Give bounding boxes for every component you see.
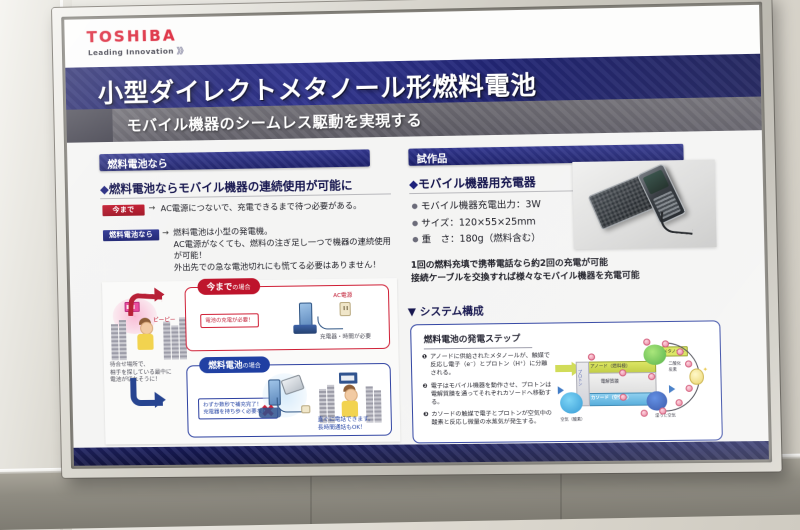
scenario-after-box: 燃料電池の場合 わずか数秒で補充完了！ 充電器を持ち歩く必要なし！ ✖ (186, 363, 392, 438)
scenario-before-pill-sub: の場合 (232, 284, 250, 291)
step-item-0: ❶アノードに供給されたメタノールが、触媒で反応し電子（e⁻）とプロトン（H⁺）に… (422, 352, 553, 378)
left-heading-text: 燃料電池ならモバイル機器の連続使用が可能に (109, 178, 353, 196)
charger-crossed-out (259, 408, 281, 418)
badge-after: 燃料電池なら (103, 229, 159, 241)
section-header-fuelcell-label: 燃料電池なら (107, 155, 168, 171)
after-text-line-1: AC電源がなくても、燃料の注ぎ足し一つで機器の連続使用が可能！ (173, 235, 396, 262)
scenario-before-callout: 電池の充電が必要！ (200, 313, 258, 328)
proton-label: プロトン (577, 370, 584, 386)
scenario-before-footnote: 充電器・時間が必要 (320, 334, 371, 342)
poster-body: 燃料電池なら ◆燃料電池ならモバイル機器の連続使用が可能に 今まで → AC電源… (67, 130, 769, 448)
spec-list: モバイル機器充電出力：3W サイズ：120×55×25mm 重 さ：180g（燃… (411, 197, 541, 249)
wet-air-out-arrow-icon (669, 385, 675, 393)
co2-blob (643, 344, 666, 365)
air-in-arrow-icon (558, 386, 564, 394)
step-text-2: カソードの触媒で電子とプロトンが空気中の酸素と反応し微量の水蒸気が発生する。 (431, 411, 552, 427)
scenario-after-result-0: 直ぐに電話できます。 (318, 417, 374, 425)
product-photo (572, 160, 716, 250)
system-config-label: システム構成 (420, 305, 484, 318)
electrolyte-label: 電解質膜 (601, 379, 619, 385)
right-heading-text: モバイル機器用充電器 (418, 175, 536, 191)
before-text-line-0: AC電源につないで、充電できるまで待つ必要がある。 (161, 200, 362, 215)
chevrons-icon: 》》 (177, 46, 187, 55)
scenario-before-pill: 今までの場合 (197, 278, 259, 295)
scenario-after-pill-sub: の場合 (243, 362, 261, 369)
connector-plug (301, 405, 310, 413)
diamond-icon: ◆ (100, 182, 109, 196)
step-num-2: ❸ (423, 411, 428, 419)
system-config-header: ▼ システム構成 (408, 303, 484, 319)
scenario-illustration: ピーピー 待合せ場所で、 相手を探している最中に 電池が切れそうに！ (102, 278, 400, 444)
air-blob (560, 392, 583, 414)
step-text-0: アノードに供給されたメタノールが、触媒で反応し電子（e⁻）とプロトン（H⁺）に分… (430, 353, 550, 377)
step-item-2: ❸カソードの触媒で電子とプロトンが空気中の酸素と反応し微量の水蒸気が発生する。 (423, 410, 554, 428)
spec-item-2: 重 さ：180g（燃料含む） (412, 230, 542, 249)
scenario-before-pill-main: 今まで (207, 282, 233, 292)
fuelcell-diagram: メタノール アノード（燃料極） 電解質膜 カソード（空気極） プロトン 二酸化 … (555, 338, 714, 435)
anode-label: アノード（燃料極） (590, 363, 630, 370)
right-heading: ◆モバイル機器用充電器 (409, 174, 536, 192)
scenario-after-result-1: 長時間通話もOK！ (318, 424, 374, 432)
methanol-inlet-bar (555, 365, 574, 372)
flow-arrow-up-icon (128, 287, 175, 314)
after-text-line-2: 外出先での急な電池切れにも慌てる必要はありません！ (174, 258, 397, 273)
framed-poster: TOSHIBA Leading Innovation 》》 小型ダイレクトメタノ… (52, 0, 782, 478)
air-label: 空気（酸素） (560, 416, 585, 422)
diamond-icon-right: ◆ (409, 177, 418, 191)
section-header-prototype-label: 試作品 (416, 150, 447, 166)
step-list: ❶アノードに供給されたメタノールが、触媒で反応し電子（e⁻）とプロトン（H⁺）に… (422, 352, 555, 432)
spec-item-0: モバイル機器充電出力：3W (411, 197, 541, 216)
scenario-before-box: 今までの場合 電池の充電が必要！ AC電源 充電器・時間が必要 (184, 284, 390, 351)
section-header-fuelcell: 燃料電池なら (99, 149, 370, 171)
flow-arrow-down-icon (130, 378, 171, 413)
brand-tagline: Leading Innovation 》》 (88, 45, 187, 58)
arrow-after-icon: → (162, 228, 169, 237)
triangle-down-icon: ▼ (408, 306, 416, 318)
tagline-text: Leading Innovation (88, 46, 174, 57)
system-title-rule (424, 347, 532, 349)
step-text-1: 電子はモバイル機器を動作させ、プロトンは電解質膜を通ってそれぞれカソードへ移動す… (431, 382, 552, 406)
arrow-before-icon: → (148, 203, 155, 212)
system-box-title: 燃料電池の発電ステップ (424, 332, 521, 345)
spec-item-1: サイズ：120×55×25mm (412, 214, 542, 233)
ac-outlet-icon (339, 302, 350, 316)
connection-cable (659, 212, 694, 235)
scenario-after-pill-main: 燃料電池 (208, 361, 243, 371)
charging-dock (293, 325, 316, 334)
ac-label: AC電源 (333, 293, 352, 301)
badge-before: 今まで (102, 205, 144, 217)
step-num-0: ❶ (422, 353, 427, 361)
right-notes: 1回の燃料充填で携帯電話なら約2回の充電が可能 接続ケーブルを交換すれば様々なモ… (411, 255, 720, 285)
poster-content: TOSHIBA Leading Innovation 》》 小型ダイレクトメタノ… (64, 5, 769, 466)
battery-full-icon (339, 372, 358, 383)
step-item-1: ❷電子はモバイル機器を動作させ、プロトンは電解質膜を通ってそれぞれカソードへ移動… (423, 381, 554, 407)
system-config-box: 燃料電池の発電ステップ ❶アノードに供給されたメタノールが、触媒で反応し電子（e… (410, 320, 723, 443)
beep-label: ピーピー (153, 317, 176, 325)
toshiba-logo: TOSHIBA (86, 26, 176, 46)
scenario-after-pill: 燃料電池の場合 (199, 356, 270, 373)
bulb-rays-icon: ✦ (703, 366, 708, 373)
power-wire (317, 316, 343, 329)
step-num-1: ❷ (423, 382, 428, 390)
